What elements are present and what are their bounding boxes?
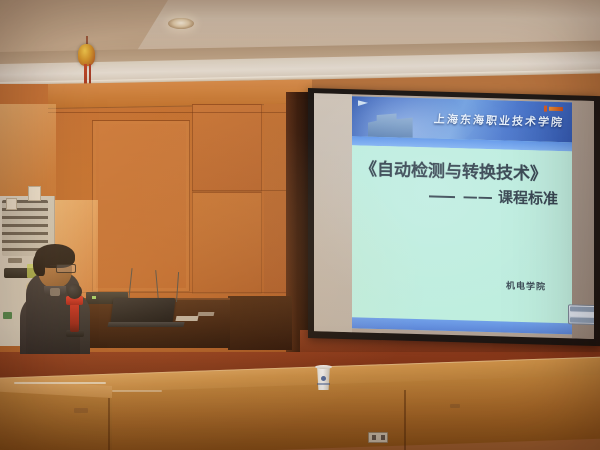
wall-panel-upper (192, 104, 262, 192)
banner-red-tick (544, 106, 547, 112)
microphone-stem (70, 304, 79, 332)
cable-grommet-plate[interactable] (368, 432, 388, 443)
desk-label-tab (450, 404, 460, 408)
cup-logo-icon (321, 376, 326, 381)
slide-subtitle-text: —— 课程标准 (463, 187, 558, 208)
subtitle-dash-icon (429, 195, 455, 198)
banner-logo-mark (549, 107, 563, 111)
podium-side-cabinet (228, 296, 292, 350)
presentation-slide: 上海东海职业技术学院 《自动检测与转换技术》 —— 课程标准 机电学院 (352, 96, 572, 334)
presenter-shirt (50, 288, 60, 296)
ac-green-marker (3, 312, 12, 319)
glasses-icon (56, 264, 76, 273)
screen-right-margin (572, 100, 594, 339)
cup-band (317, 383, 330, 385)
wall-seam (192, 190, 286, 191)
slide-department: 机电学院 (506, 279, 546, 293)
desk-highlight (112, 390, 162, 392)
wall-seam (48, 112, 286, 113)
left-desk-panel (0, 391, 112, 450)
laptop-base[interactable] (107, 322, 184, 327)
wall-sticker (6, 198, 17, 210)
toolbar-row[interactable] (570, 306, 594, 312)
presenter-hair-side (33, 254, 45, 276)
paper-sheet (175, 316, 198, 321)
screen-left-margin (314, 93, 352, 332)
microphone-icon[interactable] (67, 284, 82, 299)
presentation-toolbar[interactable] (568, 304, 594, 325)
laptop-screen[interactable] (110, 298, 175, 324)
desk-highlight (14, 382, 106, 384)
toolbar-row[interactable] (570, 318, 594, 324)
wall-panel-lower (192, 192, 262, 294)
cup-rim (315, 365, 332, 369)
projection-screen-surface: 上海东海职业技术学院 《自动检测与转换技术》 —— 课程标准 机电学院 (314, 93, 594, 339)
ac-brand-badge (8, 258, 22, 263)
room-scene: 上海东海职业技术学院 《自动检测与转换技术》 —— 课程标准 机电学院 (0, 0, 600, 450)
equipment-led (92, 296, 96, 299)
desk-label-tab (74, 408, 88, 413)
slide-subtitle: —— 课程标准 (429, 184, 558, 209)
wall-panel-narrow (264, 104, 286, 294)
slide-banner: 上海东海职业技术学院 (352, 96, 572, 142)
projection-screen-frame: 上海东海职业技术学院 《自动检测与转换技术》 —— 课程标准 机电学院 (308, 88, 600, 346)
recessed-downlight-icon (168, 18, 194, 29)
wall-panel-large (92, 120, 190, 292)
toolbar-row[interactable] (570, 312, 594, 318)
hanging-ornament (78, 44, 95, 66)
desk-joint-seam (404, 390, 406, 450)
paper-sheet-2 (198, 312, 215, 316)
wall-sticker (28, 186, 41, 201)
desk-joint-seam (108, 398, 110, 450)
